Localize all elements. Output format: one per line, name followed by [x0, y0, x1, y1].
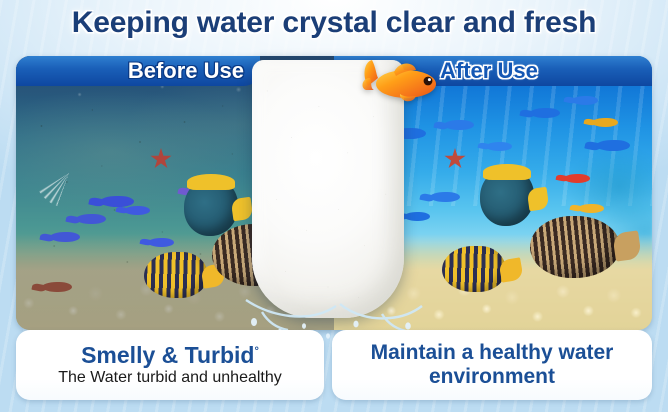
blue-fish	[50, 232, 80, 242]
caption-after: Maintain a healthy water environment	[332, 330, 652, 400]
yellow-fish	[578, 204, 604, 213]
blue-fish	[100, 196, 134, 207]
blue-fish	[596, 140, 630, 151]
tang-fish	[184, 178, 238, 236]
blue-fish	[124, 206, 150, 215]
blue-fish	[444, 120, 474, 130]
blue-fish	[430, 192, 460, 202]
blue-fish	[76, 214, 106, 224]
caption-before-subtitle: The Water turbid and unhealthy	[58, 369, 282, 387]
caption-before: Smelly & Turbid° The Water turbid and un…	[16, 330, 324, 400]
label-before-use: Before Use	[16, 56, 260, 86]
blue-fish	[486, 142, 512, 151]
bottom-fish	[42, 282, 72, 292]
caption-after-title-line2: environment	[429, 365, 555, 389]
blue-fish	[404, 212, 430, 221]
page-title: Keeping water crystal clear and fresh	[0, 6, 668, 40]
red-fish	[564, 174, 590, 183]
caption-before-title: Smelly & Turbid°	[81, 343, 259, 367]
promo-banner: Keeping water crystal clear and fresh	[0, 0, 668, 412]
caption-after-title-line1: Maintain a healthy water	[371, 341, 614, 365]
blue-fish	[148, 238, 174, 247]
label-after-use-text: After Use	[440, 58, 538, 84]
emperor-angelfish	[530, 216, 620, 278]
angelfish	[144, 252, 208, 298]
degree-mark: °	[254, 345, 258, 357]
angelfish	[442, 246, 506, 292]
label-before-use-text: Before Use	[128, 58, 244, 84]
blue-fish	[530, 108, 560, 118]
caption-before-title-text: Smelly & Turbid	[81, 342, 254, 368]
yellow-fish	[592, 118, 618, 127]
blue-fish	[572, 96, 598, 105]
goldfish-icon	[360, 56, 444, 104]
tang-fish	[480, 168, 534, 226]
